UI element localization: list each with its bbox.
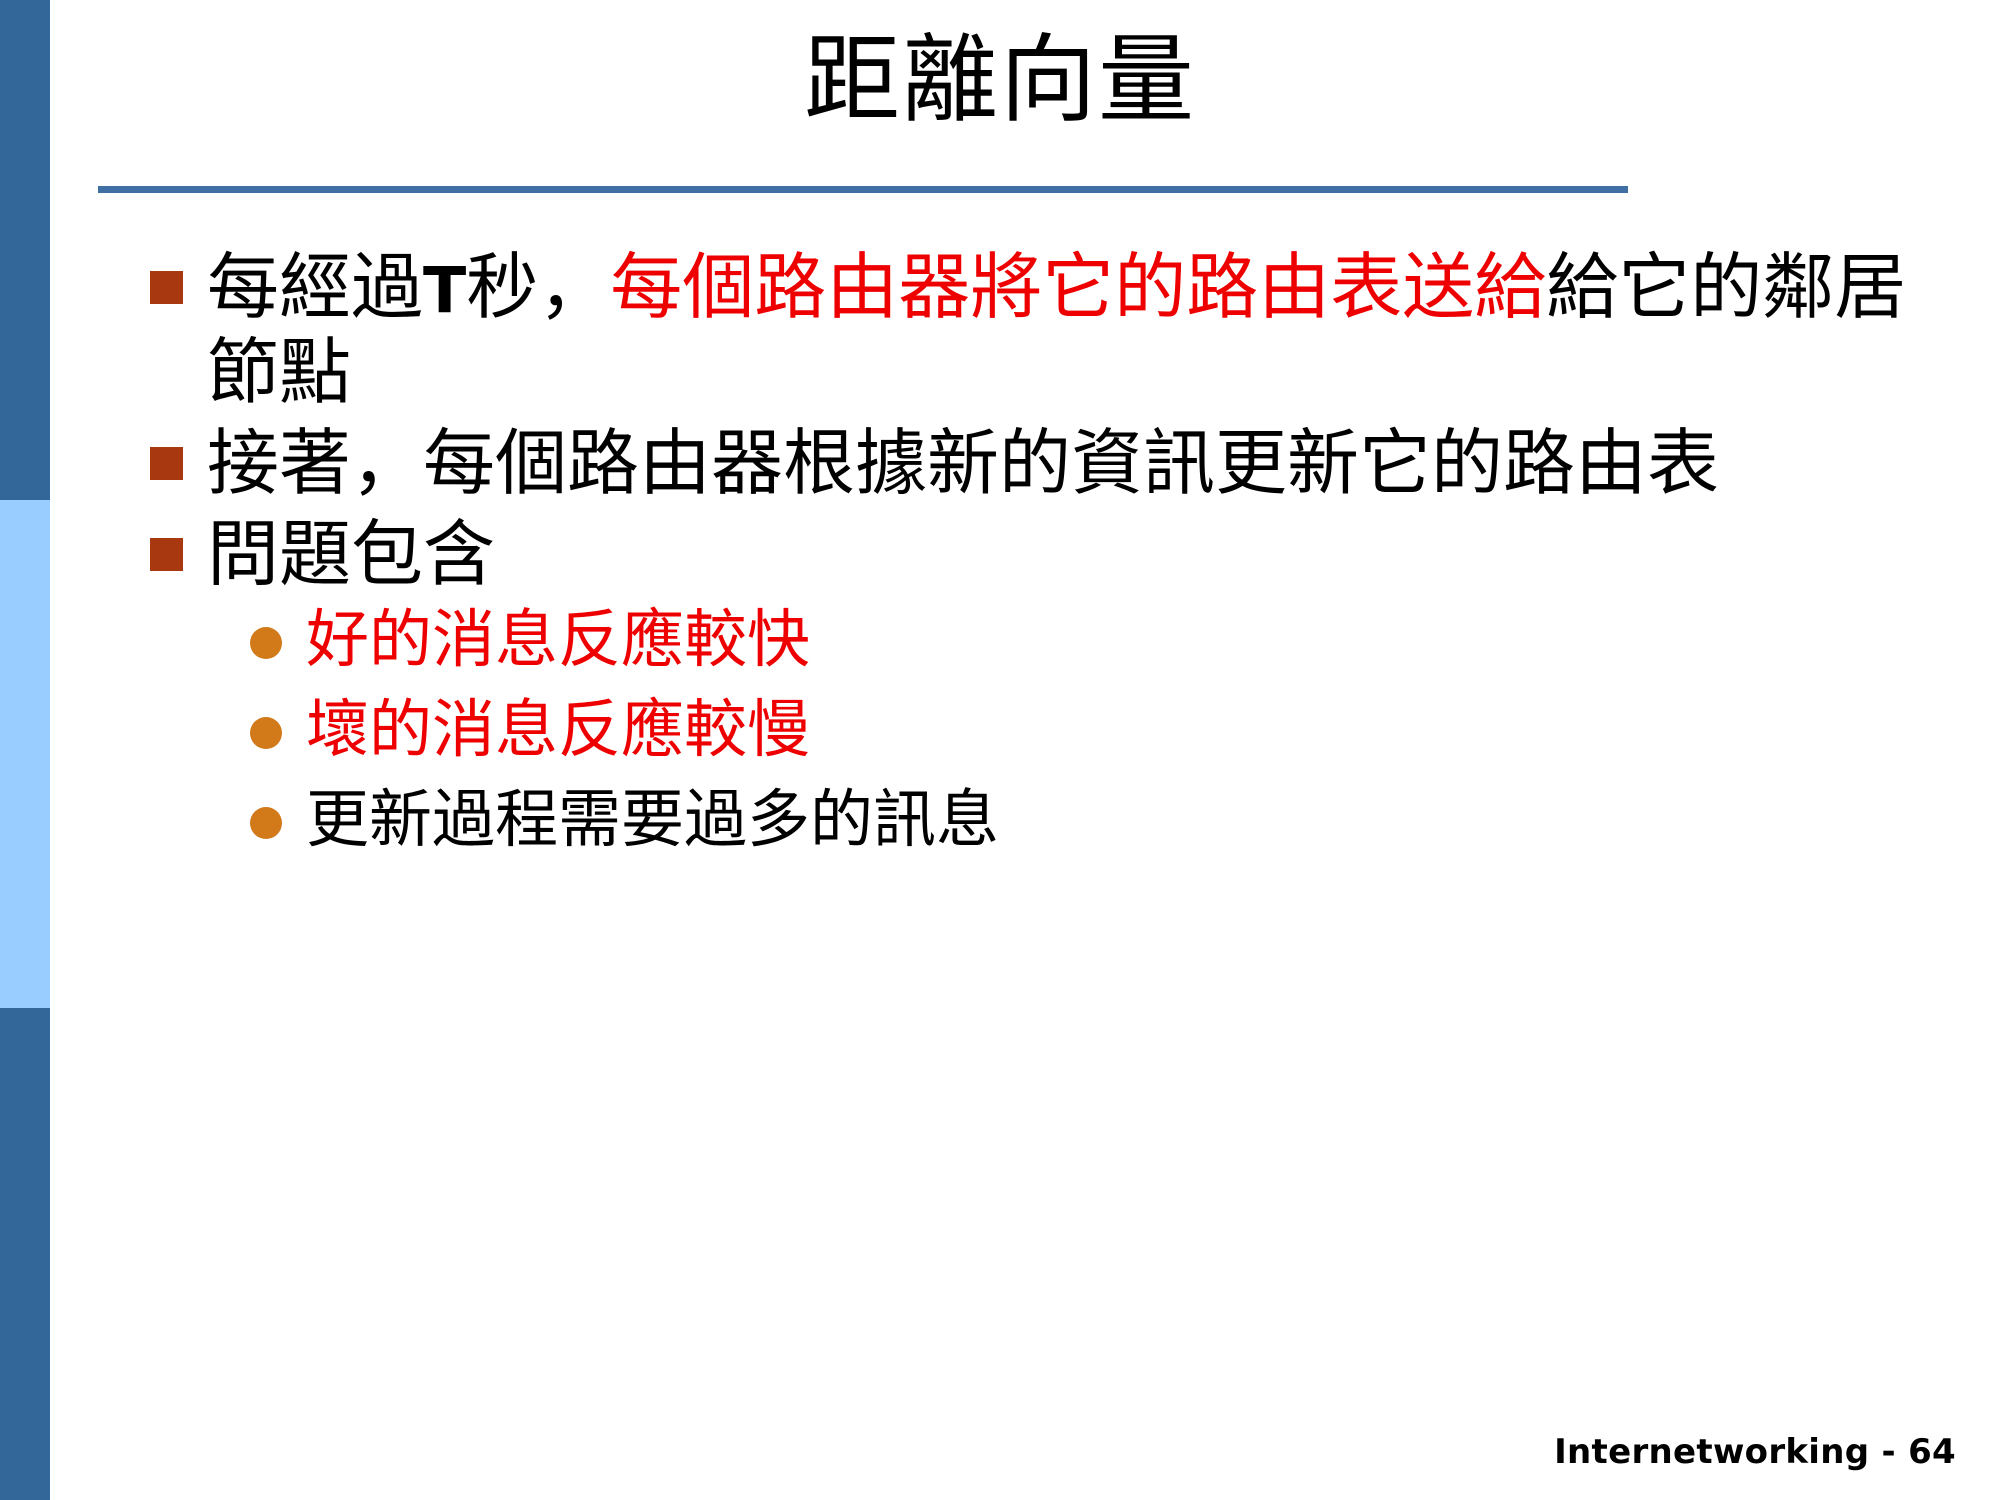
bullet-text: 問題包含	[207, 512, 495, 597]
bullet-item: 壞的消息反應較慢	[150, 693, 1940, 767]
bullet-text: 壞的消息反應較慢	[306, 693, 810, 767]
slide-title: 距離向量	[100, 30, 1900, 131]
bullet-text: 好的消息反應較快	[306, 603, 810, 677]
text-run: T	[423, 253, 466, 327]
sidebar-band-bottom	[0, 1008, 50, 1500]
bullet-list: 每經過T秒，每個路由器將它的路由表送給給它的鄰居節點接著，每個路由器根據新的資訊…	[150, 245, 1940, 874]
text-run: 壞的消息反應較慢	[306, 693, 810, 766]
sidebar-band-middle	[0, 500, 50, 1008]
bullet-text: 接著，每個路由器根據新的資訊更新它的路由表	[207, 421, 1719, 506]
text-run: 秒，	[466, 245, 610, 329]
text-run: 問題包含	[207, 512, 495, 596]
slide: 距離向量 每經過T秒，每個路由器將它的路由表送給給它的鄰居節點接著，每個路由器根…	[0, 0, 2000, 1500]
bullet-item: 好的消息反應較快	[150, 603, 1940, 677]
sidebar-decoration	[0, 0, 50, 1500]
round-bullet-icon	[250, 807, 282, 839]
bullet-item: 接著，每個路由器根據新的資訊更新它的路由表	[150, 421, 1940, 506]
square-bullet-icon	[150, 271, 183, 304]
bullet-item: 問題包含	[150, 512, 1940, 597]
text-run: 每經過	[207, 245, 423, 329]
square-bullet-icon	[150, 538, 183, 571]
square-bullet-icon	[150, 447, 183, 480]
text-run: 每個路由器將它的路由表送給	[610, 245, 1546, 329]
text-run: 接著，每個路由器根據新的資訊更新它的路由表	[207, 421, 1719, 505]
text-run: 更新過程需要過多的訊息	[306, 783, 999, 856]
title-divider	[98, 186, 1628, 193]
sidebar-band-top	[0, 0, 50, 500]
round-bullet-icon	[250, 717, 282, 749]
text-run: 好的消息反應較快	[306, 603, 810, 676]
bullet-text: 更新過程需要過多的訊息	[306, 783, 999, 857]
bullet-item: 每經過T秒，每個路由器將它的路由表送給給它的鄰居節點	[150, 245, 1940, 415]
round-bullet-icon	[250, 627, 282, 659]
slide-footer: Internetworking - 64	[1554, 1432, 1956, 1472]
bullet-item: 更新過程需要過多的訊息	[150, 783, 1940, 857]
bullet-text: 每經過T秒，每個路由器將它的路由表送給給它的鄰居節點	[207, 245, 1940, 415]
